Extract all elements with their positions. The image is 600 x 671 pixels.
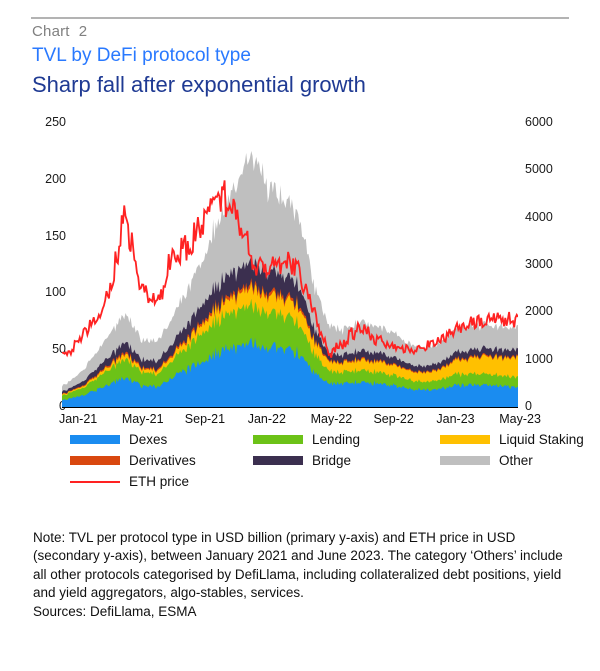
- legend-item-lending[interactable]: Lending: [253, 432, 360, 447]
- x-tick-jan-23: Jan-23: [436, 412, 474, 426]
- page-title: Sharp fall after exponential growth: [32, 70, 366, 100]
- legend-label-liquid-staking: Liquid Staking: [499, 432, 584, 447]
- legend-swatch-dexes: [70, 435, 120, 444]
- x-tick-may-22: May-22: [311, 412, 353, 426]
- chart-plot-area: 050100150200250 010002000300040005000600…: [0, 112, 600, 412]
- chart-kicker-number: 2: [79, 23, 88, 40]
- sources-text: Sources: DefiLlama, ESMA: [33, 603, 573, 621]
- y-tick-right-1000: 1000: [525, 352, 553, 366]
- chart-kicker-label: Chart: [32, 23, 70, 40]
- legend-row-1: Dexes Lending Liquid Staking: [0, 432, 600, 453]
- legend-item-dexes[interactable]: Dexes: [70, 432, 167, 447]
- chart-legend: Dexes Lending Liquid Staking Derivatives…: [0, 432, 600, 495]
- x-tick-may-23: May-23: [499, 412, 541, 426]
- y-tick-right-4000: 4000: [525, 210, 553, 224]
- legend-label-bridge: Bridge: [312, 453, 351, 468]
- legend-swatch-lending: [253, 435, 303, 444]
- header-divider: [31, 17, 569, 19]
- legend-swatch-liquid-staking: [440, 435, 490, 444]
- x-tick-may-21: May-21: [122, 412, 164, 426]
- legend-item-other[interactable]: Other: [440, 453, 533, 468]
- legend-item-derivatives[interactable]: Derivatives: [70, 453, 196, 468]
- legend-swatch-derivatives: [70, 456, 120, 465]
- chart-page: Chart2 TVL by DeFi protocol type Sharp f…: [0, 0, 600, 671]
- chart-header: Chart2 TVL by DeFi protocol type Sharp f…: [32, 22, 366, 100]
- x-tick-jan-22: Jan-22: [248, 412, 286, 426]
- legend-item-bridge[interactable]: Bridge: [253, 453, 351, 468]
- plot-canvas: [62, 123, 518, 407]
- x-tick-jan-21: Jan-21: [59, 412, 97, 426]
- legend-swatch-bridge: [253, 456, 303, 465]
- legend-label-dexes: Dexes: [129, 432, 167, 447]
- legend-label-other: Other: [499, 453, 533, 468]
- y-tick-right-6000: 6000: [525, 115, 553, 129]
- x-tick-sep-21: Sep-21: [185, 412, 225, 426]
- chart-subtitle: TVL by DeFi protocol type: [32, 43, 366, 68]
- legend-item-eth-price[interactable]: ETH price: [70, 474, 189, 489]
- y-tick-right-3000: 3000: [525, 257, 553, 271]
- stacked-area-chart: [62, 123, 518, 407]
- chart-footnote: Note: TVL per protocol type in USD billi…: [33, 529, 573, 621]
- chart-number-line: Chart2: [32, 22, 366, 42]
- legend-item-liquid-staking[interactable]: Liquid Staking: [440, 432, 584, 447]
- y-tick-right-0: 0: [525, 399, 532, 413]
- legend-row-3: ETH price: [0, 474, 600, 495]
- legend-line-eth-price: [70, 481, 120, 483]
- x-axis-line: [62, 407, 518, 408]
- legend-label-derivatives: Derivatives: [129, 453, 196, 468]
- note-text: Note: TVL per protocol type in USD billi…: [33, 529, 573, 603]
- y-tick-right-2000: 2000: [525, 304, 553, 318]
- x-tick-sep-22: Sep-22: [373, 412, 413, 426]
- y-tick-right-5000: 5000: [525, 162, 553, 176]
- legend-row-2: Derivatives Bridge Other: [0, 453, 600, 474]
- legend-label-lending: Lending: [312, 432, 360, 447]
- legend-swatch-other: [440, 456, 490, 465]
- legend-label-eth-price: ETH price: [129, 474, 189, 489]
